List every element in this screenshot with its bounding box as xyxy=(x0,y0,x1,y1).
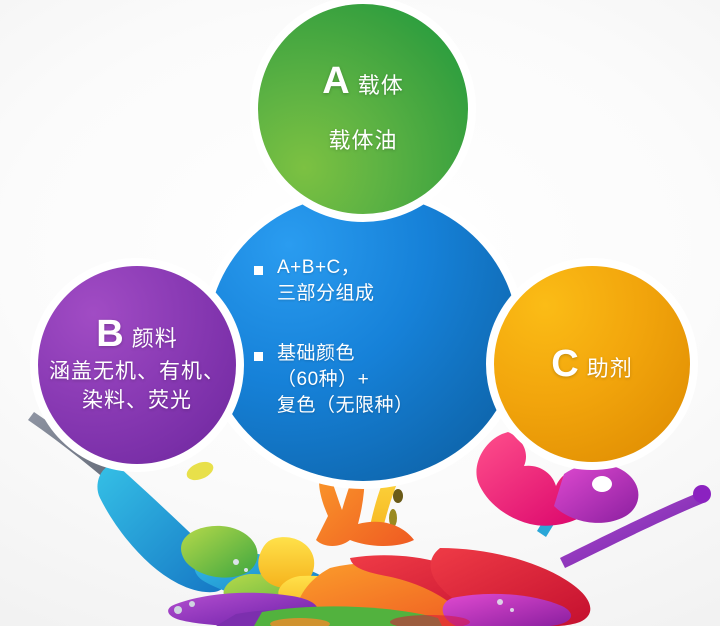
center-bullet-list: A+B+C， 三部分组成 基础颜色 （60种）+ 复色（无限种） xyxy=(238,255,488,419)
bullet-item-1: A+B+C， 三部分组成 xyxy=(254,255,488,307)
node-a-green[interactable]: A 载体 载体油 xyxy=(258,4,468,214)
node-c-orange[interactable]: C 助剂 xyxy=(494,266,690,462)
square-bullet-icon xyxy=(254,266,263,275)
node-a-letter: A xyxy=(322,62,349,100)
node-b-purple[interactable]: B 颜料 涵盖无机、有机、 染料、荧光 xyxy=(38,266,236,464)
square-bullet-icon xyxy=(254,352,263,361)
infographic-canvas: A+B+C， 三部分组成 基础颜色 （60种）+ 复色（无限种） A 载体 载体… xyxy=(0,0,720,626)
node-b-word: 颜料 xyxy=(132,328,178,350)
node-a-subtitle: 载体油 xyxy=(328,126,397,156)
center-blue-circle[interactable]: A+B+C， 三部分组成 基础颜色 （60种）+ 复色（无限种） xyxy=(208,193,518,481)
node-c-header: C 助剂 xyxy=(551,345,632,383)
node-a-word: 载体 xyxy=(358,75,404,97)
node-b-header: B 颜料 xyxy=(96,315,177,353)
node-c-letter: C xyxy=(551,345,578,383)
bullet-text-1: A+B+C， 三部分组成 xyxy=(277,255,375,307)
bullet-text-2: 基础颜色 （60种）+ 复色（无限种） xyxy=(277,341,414,419)
node-c-word: 助剂 xyxy=(587,358,633,380)
node-b-letter: B xyxy=(96,315,123,353)
node-b-subtitle: 涵盖无机、有机、 染料、荧光 xyxy=(49,357,225,415)
node-a-header: A 载体 xyxy=(322,62,403,100)
bullet-item-2: 基础颜色 （60种）+ 复色（无限种） xyxy=(254,341,488,419)
